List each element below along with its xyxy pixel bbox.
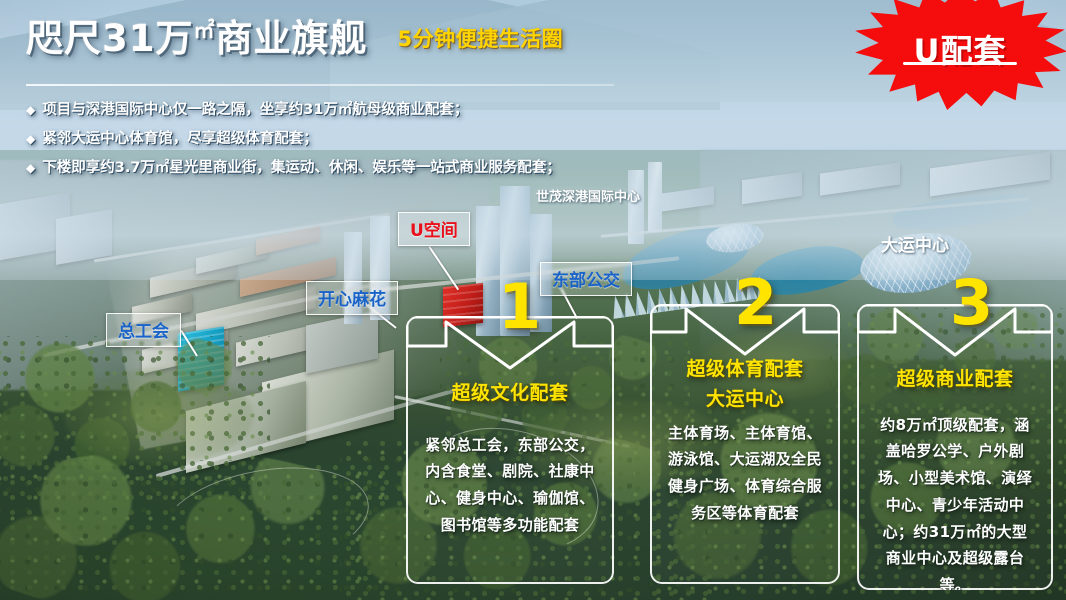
u-facilities-star-badge: U配套: [853, 0, 1066, 110]
card-body: 约8万㎡顶级配套，涵盖哈罗公学、户外剧场、小型美术馆、演绎中心、青少年活动中心；…: [875, 412, 1035, 599]
card-body: 紧邻总工会，东部公交，内含食堂、剧院、社康中心、健身中心、瑜伽馆、图书馆等多功能…: [425, 432, 595, 539]
page-subtitle: 5分钟便捷生活圈: [398, 23, 564, 57]
bullet-item: ◆ 下楼即享约3.7万㎡星光里商业街，集运动、休闲、娱乐等一站式商业服务配套；: [26, 156, 646, 177]
page-title-main: 咫尺31万: [26, 17, 194, 60]
header-divider: [26, 84, 614, 86]
map-label-shimao-center: 世茂深港国际中心: [536, 186, 640, 205]
info-card-3[interactable]: 超级商业配套 约8万㎡顶级配套，涵盖哈罗公学、户外剧场、小型美术馆、演绎中心、青…: [857, 304, 1053, 590]
card-body: 主体育场、主体育馆、游泳馆、大运湖及全民健身广场、体育综合服务区等体育配套: [666, 420, 824, 527]
star-badge-underline: [903, 62, 1017, 65]
page-title: 咫尺31万㎡商业旗舰: [26, 20, 368, 57]
card-content: 超级文化配套 紧邻总工会，东部公交，内含食堂、剧院、社康中心、健身中心、瑜伽馆、…: [408, 318, 612, 582]
slide-canvas: 咫尺31万㎡商业旗舰 5分钟便捷生活圈 ◆ 项目与深港国际中心仅一路之隔，坐享约…: [0, 0, 1066, 600]
bullet-list: ◆ 项目与深港国际中心仅一路之隔，坐享约31万㎡航母级商业配套； ◆ 紧邻大运中…: [26, 98, 646, 177]
bullet-item: ◆ 项目与深港国际中心仅一路之隔，坐享约31万㎡航母级商业配套；: [26, 98, 646, 119]
diamond-bullet-icon: ◆: [26, 133, 35, 145]
marker-number-1: 1: [498, 276, 541, 338]
bullet-text: 紧邻大运中心体育馆，尽享超级体育配套；: [42, 127, 318, 148]
map-callout-dongbu-bus[interactable]: 东部公交: [540, 262, 632, 296]
card-content: 超级商业配套 约8万㎡顶级配套，涵盖哈罗公学、户外剧场、小型美术馆、演绎中心、青…: [859, 306, 1051, 588]
map-callout-u-space[interactable]: U空间: [398, 212, 470, 246]
marker-number-3: 3: [950, 272, 993, 334]
page-title-tail: 商业旗舰: [216, 17, 368, 60]
card-title: 超级文化配套: [451, 382, 568, 406]
star-badge-label: U配套: [853, 26, 1066, 72]
bullet-text: 下楼即享约3.7万㎡星光里商业街，集运动、休闲、娱乐等一站式商业服务配套；: [42, 156, 561, 177]
bullet-text: 项目与深港国际中心仅一路之隔，坐享约31万㎡航母级商业配套；: [42, 98, 468, 119]
page-title-unit: ㎡: [194, 19, 216, 43]
header-block: 咫尺31万㎡商业旗舰 5分钟便捷生活圈: [26, 20, 563, 57]
map-callout-zonggonghui[interactable]: 总工会: [106, 313, 181, 347]
diamond-bullet-icon: ◆: [26, 104, 35, 116]
map-callout-kaixin-mahua[interactable]: 开心麻花: [306, 281, 398, 315]
card-title: 超级体育配套: [686, 358, 803, 382]
diamond-bullet-icon: ◆: [26, 162, 35, 174]
card-title: 超级商业配套: [896, 368, 1013, 392]
marker-number-2: 2: [734, 272, 777, 334]
card-content: 超级体育配套 大运中心 主体育场、主体育馆、游泳馆、大运湖及全民健身广场、体育综…: [652, 306, 838, 582]
info-card-1[interactable]: 超级文化配套 紧邻总工会，东部公交，内含食堂、剧院、社康中心、健身中心、瑜伽馆、…: [406, 316, 614, 584]
card-subtitle: 大运中心: [706, 388, 784, 412]
bullet-item: ◆ 紧邻大运中心体育馆，尽享超级体育配套；: [26, 127, 646, 148]
map-label-dayun-center: 大运中心: [881, 231, 949, 256]
info-card-2[interactable]: 超级体育配套 大运中心 主体育场、主体育馆、游泳馆、大运湖及全民健身广场、体育综…: [650, 304, 840, 584]
